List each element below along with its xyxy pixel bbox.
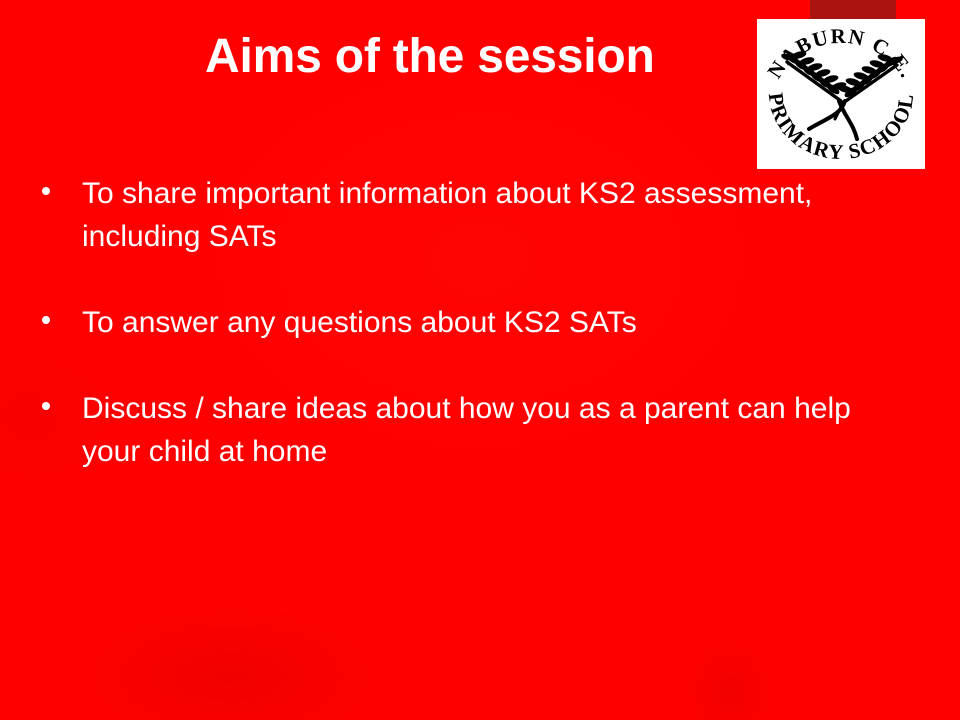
- bullet-text: Discuss / share ideas about how you as a…: [82, 387, 902, 473]
- slide-title: Aims of the session: [205, 29, 765, 86]
- school-logo: NABURN C.E. PRIMARY SCHOOL: [757, 19, 925, 169]
- bullet-dot-icon: [42, 187, 50, 195]
- bullet-item: Discuss / share ideas about how you as a…: [36, 387, 916, 473]
- bullet-list: To share important information about KS2…: [36, 172, 916, 473]
- bullet-text: To share important information about KS2…: [82, 172, 902, 258]
- bullet-dot-icon: [42, 402, 50, 410]
- bullet-text: To answer any questions about KS2 SATs: [82, 301, 902, 344]
- presentation-slide: Aims of the session NABURN C.E. PRIMARY …: [0, 0, 960, 720]
- bullet-item: To answer any questions about KS2 SATs: [36, 301, 916, 344]
- bullet-item: To share important information about KS2…: [36, 172, 916, 258]
- bullet-dot-icon: [42, 316, 50, 324]
- logo-top-arc-text: NABURN C.E.: [762, 24, 920, 83]
